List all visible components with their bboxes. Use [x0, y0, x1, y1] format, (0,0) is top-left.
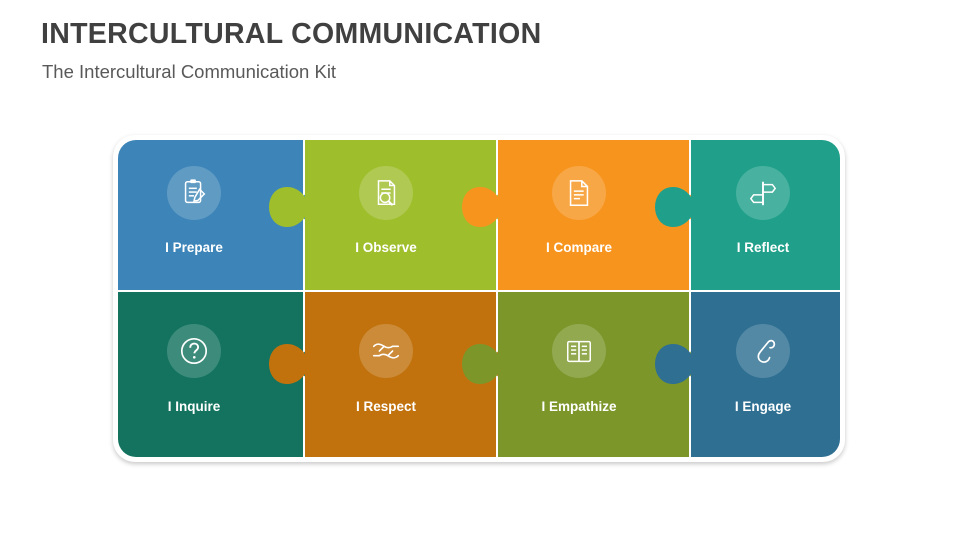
page-subtitle: The Intercultural Communication Kit	[42, 61, 336, 83]
slide-root: INTERCULTURAL COMMUNICATION The Intercul…	[0, 0, 960, 540]
puzzle-pieces-svg	[113, 135, 845, 462]
page-title: INTERCULTURAL COMMUNICATION	[41, 18, 541, 51]
puzzle-diagram: I Prepare I Observe I Compare I Reflect …	[113, 135, 845, 462]
